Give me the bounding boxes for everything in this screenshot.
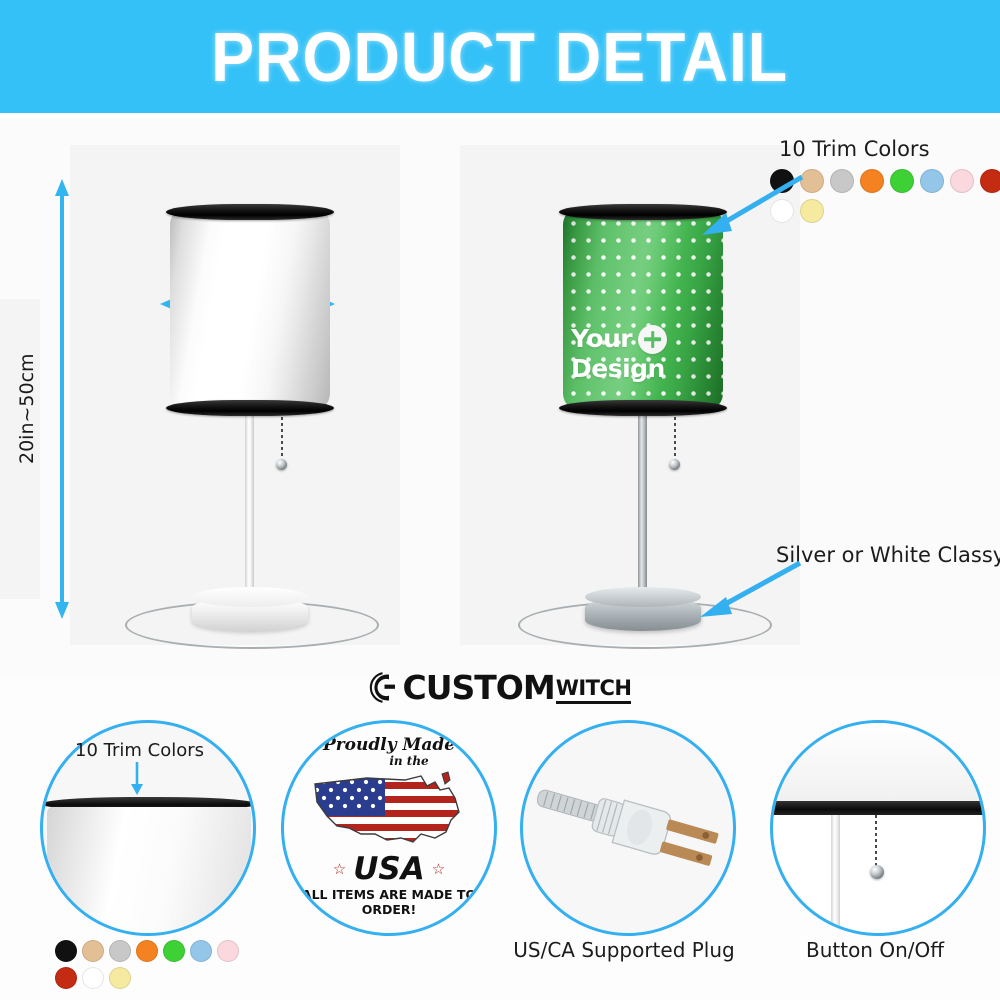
- usa-star-right-icon: ☆: [432, 862, 445, 877]
- pull-chain-ball-closeup[interactable]: [870, 865, 884, 879]
- usa-tagline: ALL ITEMS ARE MADE TO ORDER!: [294, 887, 484, 917]
- shade-trim-bottom-right: [559, 400, 727, 416]
- swatch-gray[interactable]: [830, 169, 854, 193]
- header-banner: PRODUCT DETAIL: [0, 0, 1000, 113]
- swatch-red[interactable]: [55, 967, 77, 989]
- swatch-gray[interactable]: [109, 940, 131, 962]
- feature-circle-plug: [520, 720, 736, 936]
- plus-icon[interactable]: [638, 325, 667, 354]
- swatch-green[interactable]: [890, 169, 914, 193]
- page-title: PRODUCT DETAIL: [212, 22, 789, 92]
- usa-in-the: in the: [334, 755, 484, 767]
- swatch-pink[interactable]: [950, 169, 974, 193]
- feature-trim-colors: 10 Trim Colors: [0, 712, 250, 1000]
- logo-c-icon: [369, 671, 402, 704]
- base-finish-arrow: [692, 557, 808, 619]
- feature-circle-usa: Proudly Made in the: [281, 720, 497, 936]
- shade-closeup: [47, 807, 251, 936]
- usa-map-flag-icon: [309, 768, 469, 854]
- shade-bottom-closeup: [773, 723, 983, 803]
- swatch-tan[interactable]: [82, 940, 104, 962]
- height-dimension-label: 20in~50cm: [16, 353, 38, 464]
- swatch-pink[interactable]: [217, 940, 239, 962]
- usa-star-left-icon: ☆: [333, 862, 346, 877]
- shade-trim-bottom-left: [166, 400, 334, 416]
- shade-trim-top-left: [166, 204, 334, 220]
- usa-badge: Proudly Made in the: [294, 737, 484, 917]
- shade-surface-left: [170, 211, 330, 407]
- feature-plug-label: US/CA Supported Plug: [498, 938, 750, 962]
- feature-trim-label: 10 Trim Colors: [75, 740, 204, 761]
- feature-plug: US/CA Supported Plug: [498, 712, 750, 1000]
- usa-proudly-made: Proudly Made: [294, 737, 484, 754]
- lamp-shade-right: Your Design: [563, 211, 723, 407]
- feature-circle-button: [770, 720, 986, 936]
- trim-colors-title: 10 Trim Colors: [779, 137, 930, 161]
- design-line-2: Design: [571, 356, 716, 382]
- usa-word-row: ☆ USA ☆: [294, 854, 484, 885]
- swatch-lightblue[interactable]: [190, 940, 212, 962]
- pull-chain-left[interactable]: [281, 417, 283, 461]
- feature-row: 10 Trim Colors Proudly Made in the: [0, 712, 1000, 1000]
- pull-chain-closeup[interactable]: [875, 815, 877, 867]
- design-line-1: Your: [571, 326, 632, 352]
- swatch-orange[interactable]: [860, 169, 884, 193]
- feature-button: Button On/Off: [750, 712, 1000, 1000]
- lamp-base-top-left: [192, 587, 308, 607]
- pull-chain-ball-left[interactable]: [276, 459, 287, 470]
- pull-chain-right[interactable]: [674, 417, 676, 461]
- logo-sub-text: WITCH: [556, 678, 632, 704]
- trim-band-button-closeup: [770, 801, 986, 815]
- pull-chain-ball-right[interactable]: [669, 459, 680, 470]
- lamp-showcase: 7in~18cm 20in~50cm: [0, 119, 1000, 679]
- trim-arrow-top: [694, 169, 810, 237]
- your-design-block: Your Design: [571, 325, 716, 382]
- swatch-orange[interactable]: [136, 940, 158, 962]
- brand-logo: CUSTOM WITCH: [0, 664, 1000, 710]
- height-dimension-arrow: [52, 179, 72, 619]
- swatch-black[interactable]: [55, 940, 77, 962]
- feature-trim-arrow: [128, 762, 146, 796]
- feature-made-in-usa: Proudly Made in the: [248, 712, 498, 1000]
- lamp-base-top-right: [585, 587, 701, 607]
- swatch-green[interactable]: [163, 940, 185, 962]
- power-plug-icon: [537, 781, 736, 891]
- base-finish-label: Silver or White Classy: [776, 543, 1000, 567]
- lamp-shade-left: [170, 211, 330, 407]
- trim-color-swatches-bottom[interactable]: [55, 940, 255, 989]
- product-detail-page: PRODUCT DETAIL 7in~18cm 20in~50cm: [0, 0, 1000, 1000]
- lamp-pole-closeup: [831, 815, 840, 933]
- swatch-yellow[interactable]: [109, 967, 131, 989]
- logo-main-text: CUSTOM: [403, 672, 555, 704]
- swatch-lightblue[interactable]: [920, 169, 944, 193]
- swatch-white[interactable]: [82, 967, 104, 989]
- feature-button-label: Button On/Off: [750, 938, 1000, 962]
- usa-word: USA: [353, 854, 425, 885]
- swatch-red[interactable]: [980, 169, 1000, 193]
